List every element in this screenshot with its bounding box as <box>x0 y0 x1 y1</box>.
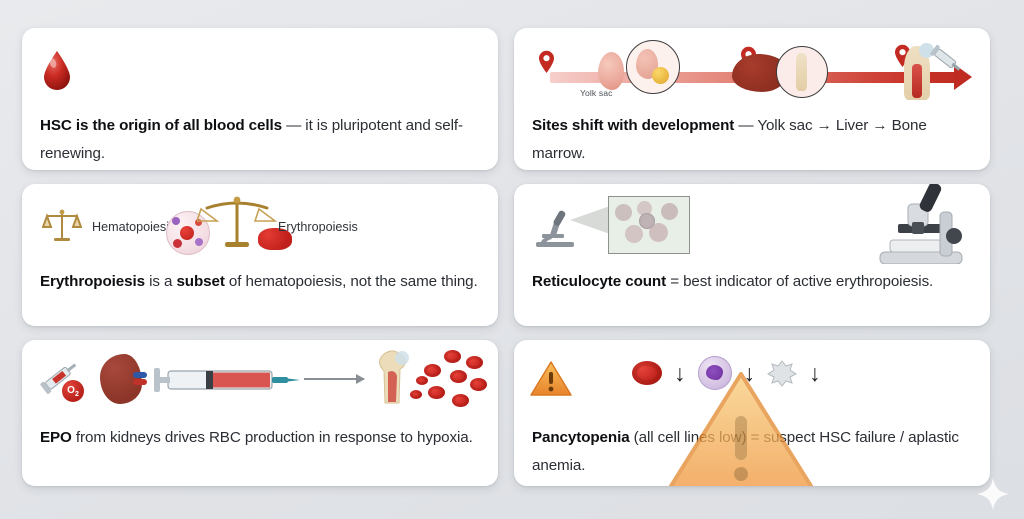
card-illustration: O2 <box>22 340 498 420</box>
scale-right-label: Erythropoiesis <box>278 220 358 234</box>
red-blood-cell-icon <box>632 361 662 385</box>
red-blood-cells-icon <box>410 350 486 412</box>
card-illustration: Yolk sac <box>514 28 990 108</box>
card-lead: Pancytopenia <box>532 429 630 446</box>
card-lead-2: subset <box>176 273 224 290</box>
card-text: HSC is the origin of all blood cells — i… <box>40 112 482 168</box>
oxygen-badge-icon: O2 <box>62 380 84 402</box>
white-blood-cell-icon <box>698 356 732 390</box>
card-epo-kidney[interactable]: O2 <box>22 340 498 486</box>
arrow-right-icon <box>304 378 364 380</box>
scale-left-label: Hematopoiesis <box>92 220 175 234</box>
cell-field-inset-icon <box>608 196 690 254</box>
embryo-magnified-icon <box>626 40 680 94</box>
card-illustration <box>514 184 990 264</box>
syringe-icon <box>926 42 966 76</box>
card-mid: is a <box>145 273 176 290</box>
blood-syringe-icon <box>150 368 300 392</box>
card-lead: EPO <box>40 429 72 446</box>
card-text: Reticulocyte count = best indicator of a… <box>532 268 974 296</box>
balance-scale-icon <box>42 206 82 246</box>
card-grid: HSC is the origin of all blood cells — i… <box>22 28 1002 490</box>
card-text: Pancytopenia (all cell lines low) = susp… <box>532 424 974 480</box>
card-hsc-origin[interactable]: HSC is the origin of all blood cells — i… <box>22 28 498 170</box>
down-arrow-icon: ↓ <box>809 362 821 385</box>
cell-lines-row: ↓ ↓ ↓ <box>632 356 821 390</box>
card-lead: Reticulocyte count <box>532 273 666 290</box>
femur-bone-icon <box>370 348 414 410</box>
embryo-icon <box>598 52 624 90</box>
card-text: EPO from kidneys drives RBC production i… <box>40 424 482 452</box>
bone-magnified-icon <box>776 46 828 98</box>
oxygen-label: O <box>67 385 75 396</box>
yolk-sac-label: Yolk sac <box>580 88 613 98</box>
card-lead: Sites shift with development <box>532 117 734 134</box>
platelet-icon <box>767 359 797 387</box>
card-erythropoiesis-subset[interactable]: Hematopoiesis Ery <box>22 184 498 326</box>
card-illustration <box>22 28 498 108</box>
card-rest: = best indicator of active erythropoiesi… <box>666 273 933 290</box>
card-lead: Erythropoiesis <box>40 273 145 290</box>
card-illustration: ↓ ↓ ↓ <box>514 340 990 420</box>
blood-drop-icon <box>42 50 72 90</box>
card-text: Erythropoiesis is a subset of hematopoie… <box>40 268 482 296</box>
light-cone-icon <box>570 206 610 234</box>
card-reticulocyte-count[interactable]: Reticulocyte count = best indicator of a… <box>514 184 990 326</box>
oxygen-sub: 2 <box>75 391 79 398</box>
kidney-icon <box>100 354 142 404</box>
map-pin-icon <box>538 50 555 74</box>
microscope-large-icon <box>868 184 976 264</box>
warning-triangle-icon <box>530 360 572 398</box>
card-lead: HSC is the origin of all blood cells <box>40 117 282 134</box>
card-pancytopenia[interactable]: ↓ ↓ ↓ Pancytopenia (all cell lines low) … <box>514 340 990 486</box>
down-arrow-icon: ↓ <box>674 362 686 385</box>
card-text: Sites shift with development — Yolk sac … <box>532 112 974 168</box>
card-sites-shift[interactable]: Yolk sac Sites shift with d <box>514 28 990 170</box>
sparkle-icon <box>976 477 1010 511</box>
card-rest: of hematopoiesis, not the same thing. <box>225 273 478 290</box>
card-rest: from kidneys drives RBC production in re… <box>72 429 473 446</box>
down-arrow-icon: ↓ <box>744 362 756 385</box>
card-illustration: Hematopoiesis Ery <box>22 184 498 264</box>
